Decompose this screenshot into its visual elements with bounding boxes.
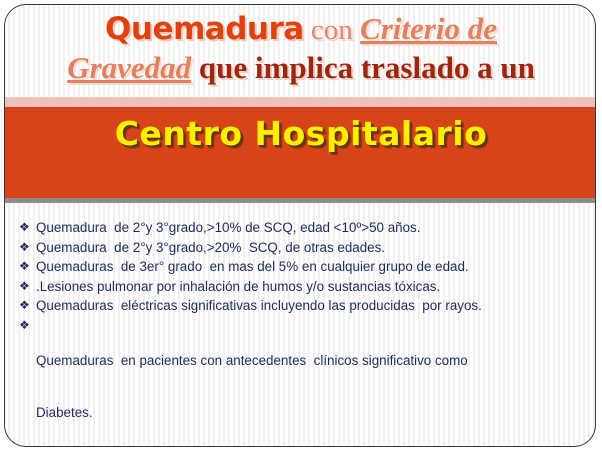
list-item-text: Quemadura de 2°y 3°grado,>10% de SCQ, ed… [36, 219, 589, 237]
list-item-text: Quemaduras en pacientes con antecedentes… [36, 317, 589, 448]
list-item-text: Quemaduras de 3er° grado en mas del 5% e… [36, 258, 589, 276]
title-word-criterio-de: Criterio de [360, 11, 497, 46]
list-item: ❖ .Lesiones pulmonar por inhalación de h… [19, 278, 589, 296]
list-item: ❖ Quemaduras de 3er° grado en mas del 5%… [19, 258, 589, 276]
banner-title: Centro Hospitalario [5, 114, 596, 153]
title-phrase-que-implica-traslado: que implica traslado a un [191, 50, 535, 85]
list-item: ❖ Quemaduras en pacientes con antecedent… [19, 317, 589, 448]
list-item-text: Quemadura de 2°y 3°grado,>20% SCQ, de ot… [36, 239, 589, 257]
list-item: ❖ Quemadura de 2°y 3°grado,>10% de SCQ, … [19, 219, 589, 237]
list-item-text: .Lesiones pulmonar por inhalación de hum… [36, 278, 589, 296]
criteria-bullet-list: ❖ Quemadura de 2°y 3°grado,>10% de SCQ, … [19, 219, 589, 447]
list-item-text-line: Diabetes. [36, 404, 589, 422]
diamond-bullet-icon: ❖ [19, 258, 36, 276]
title-word-quemadura: Quemadura [105, 11, 304, 47]
list-item-text-line: Quemaduras en pacientes con antecedentes… [36, 352, 589, 370]
title-underline-rule [5, 97, 596, 107]
hospital-banner: Centro Hospitalario [5, 107, 596, 203]
list-item: ❖ Quemadura de 2°y 3°grado,>20% SCQ, de … [19, 239, 589, 257]
diamond-bullet-icon: ❖ [19, 278, 36, 296]
slide-frame: Quemadura con Criterio de Gravedad que i… [4, 4, 596, 447]
title-line-2: Gravedad que implica traslado a un [5, 52, 596, 85]
title-word-con: con [304, 14, 360, 46]
list-item-text: Quemaduras eléctricas significativas inc… [36, 297, 589, 315]
slide-title: Quemadura con Criterio de Gravedad que i… [5, 13, 596, 84]
diamond-bullet-icon: ❖ [19, 317, 36, 335]
diamond-bullet-icon: ❖ [19, 219, 36, 237]
list-item: ❖ Quemaduras eléctricas significativas i… [19, 297, 589, 315]
title-line-1: Quemadura con Criterio de [5, 13, 596, 46]
diamond-bullet-icon: ❖ [19, 297, 36, 315]
diamond-bullet-icon: ❖ [19, 239, 36, 257]
title-word-gravedad: Gravedad [67, 50, 191, 85]
